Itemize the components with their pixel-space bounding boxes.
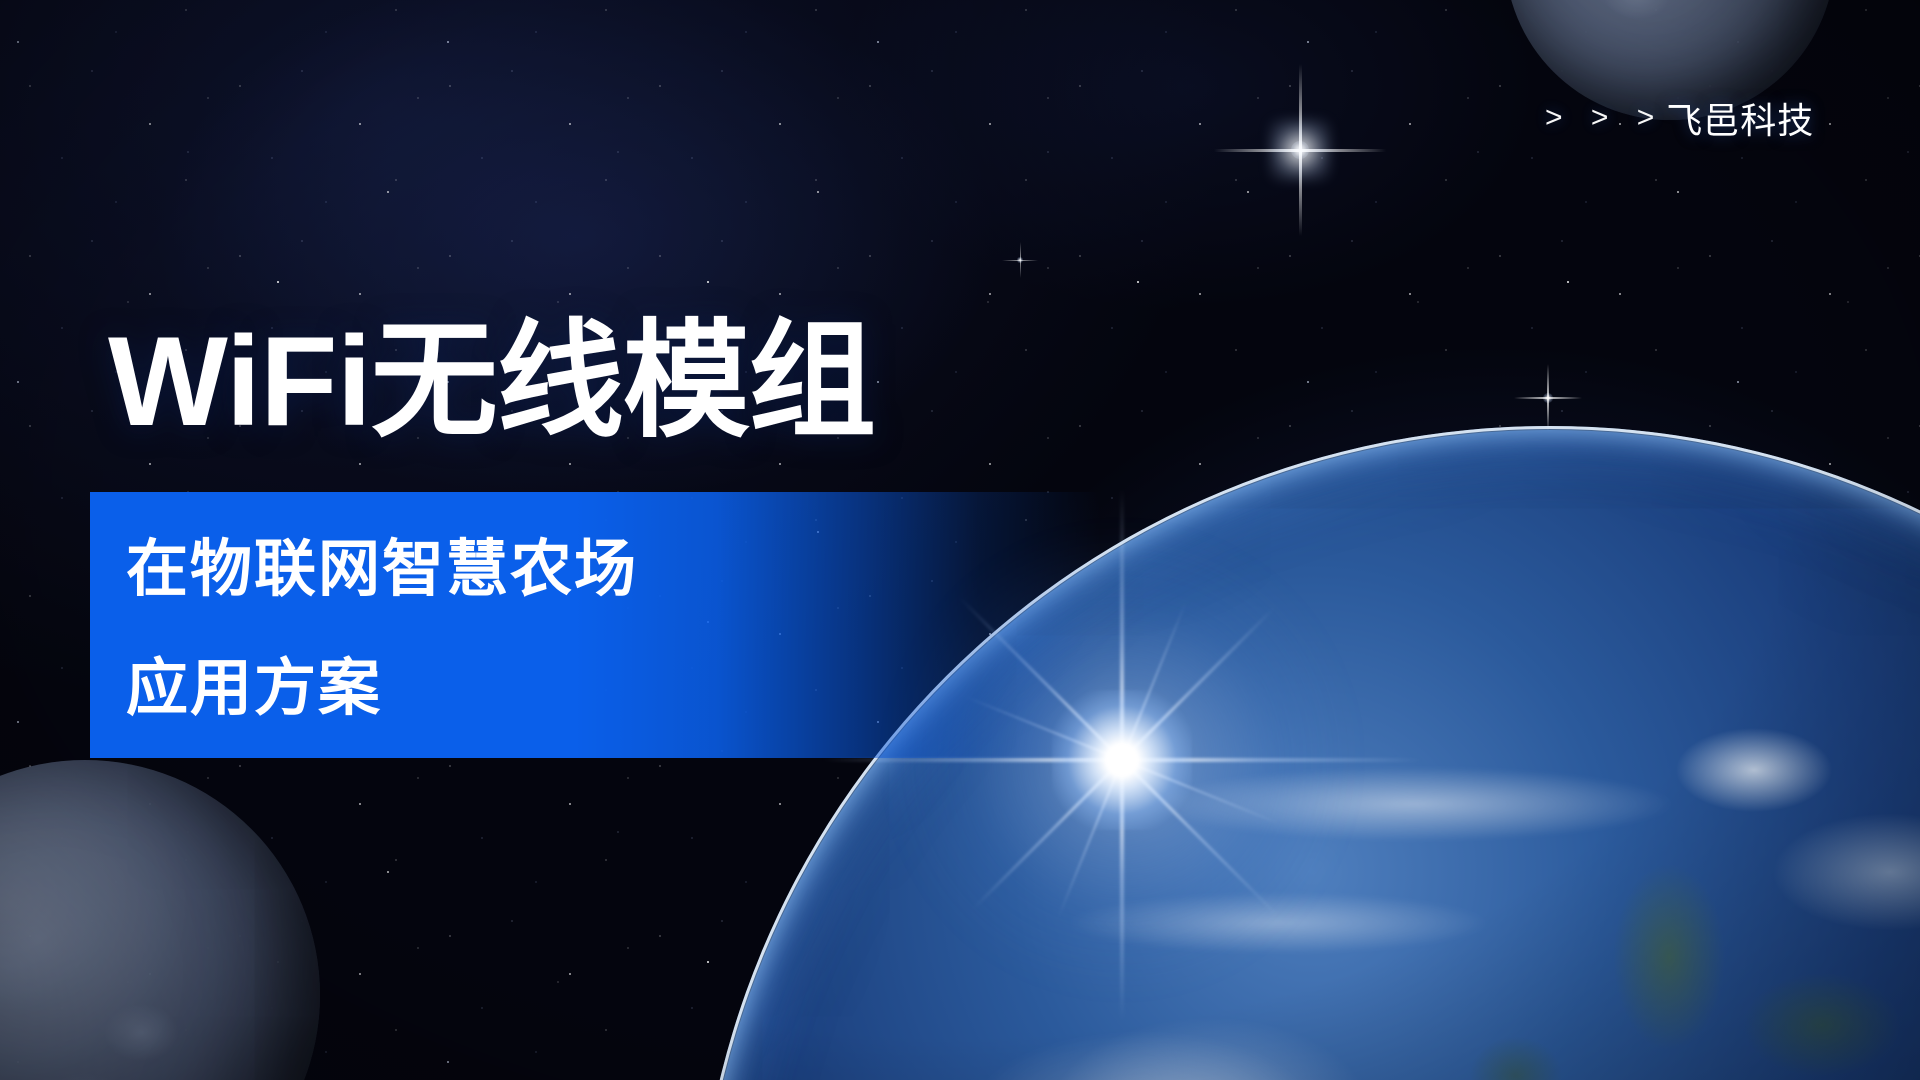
brand-name: 飞邑科技 bbox=[1666, 92, 1814, 144]
sun-flare-icon bbox=[1122, 760, 1124, 762]
subtitle-text: 在物联网智慧农场 应用方案 bbox=[126, 510, 638, 748]
banner-canvas: > > > 飞邑科技 WiFi无线模组 在物联网智慧农场 应用方案 bbox=[0, 0, 1920, 1080]
chevron-right-icons: > > > bbox=[1545, 101, 1664, 135]
brand-logo[interactable]: > > > 飞邑科技 bbox=[1545, 92, 1814, 144]
page-title: WiFi无线模组 bbox=[108, 318, 875, 445]
subtitle-line-1: 在物联网智慧农场 bbox=[126, 535, 638, 604]
subtitle-line-2: 应用方案 bbox=[126, 629, 638, 748]
